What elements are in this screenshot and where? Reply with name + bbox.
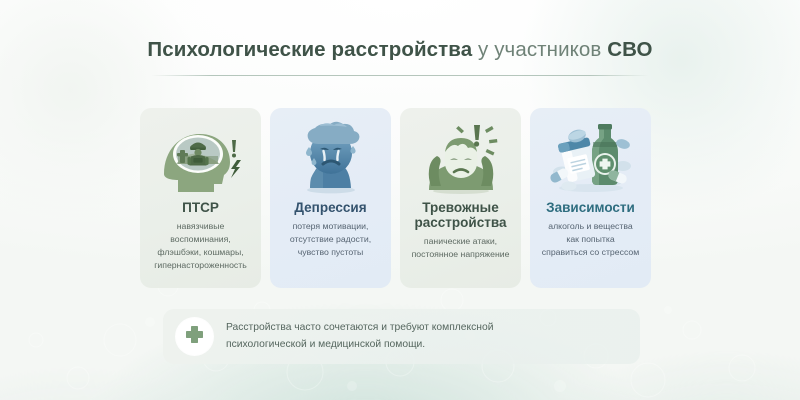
desc-line: как попытка (542, 233, 639, 246)
card-title: ПТСР (182, 200, 219, 215)
desc-line: панические атаки, (412, 235, 510, 248)
sad-face-raincloud-icon (289, 118, 373, 194)
card-title: Зависимости (546, 200, 635, 215)
note-line-2: психологической и медицинской помощи. (226, 337, 493, 354)
header: Психологические расстройства у участнико… (0, 38, 800, 76)
card-description: потеря мотивации, отсутствие радости, чу… (289, 220, 372, 259)
bottle-pills-icon (545, 118, 637, 194)
disorder-card-depression[interactable]: Депрессия потеря мотивации, отсутствие р… (270, 108, 391, 288)
summary-note-banner: Расстройства часто сочетаются и требуют … (163, 309, 640, 364)
summary-note-text: Расстройства часто сочетаются и требуют … (226, 320, 493, 353)
card-title: Тревожные расстройства (406, 200, 515, 230)
medical-cross-badge (176, 318, 213, 355)
desc-line: чувство пустоты (290, 246, 371, 259)
desc-line: флэшбэки, кошмары, (154, 246, 247, 259)
medical-cross-icon (184, 326, 205, 347)
disorder-card-addiction[interactable]: Зависимости алкоголь и вещества как попы… (530, 108, 651, 288)
desc-line: гипернастороженность (154, 259, 247, 272)
note-line-1: Расстройства часто сочетаются и требуют … (226, 320, 493, 337)
card-title: Депрессия (294, 200, 366, 215)
desc-line: навязчивые (154, 220, 247, 233)
desc-line: потеря мотивации, (290, 220, 371, 233)
desc-line: алкоголь и вещества (542, 220, 639, 233)
stressed-person-head-clutch-icon (417, 118, 505, 194)
desc-line: справиться со стрессом (542, 246, 639, 259)
desc-line: постоянное напряжение (412, 248, 510, 261)
desc-line: отсутствие радости, (290, 233, 371, 246)
card-description: навязчивые воспоминания, флэшбэки, кошма… (153, 220, 248, 272)
page-title-strong-tail: СВО (607, 38, 652, 61)
disorder-card-list: ПТСР навязчивые воспоминания, флэшбэки, … (140, 108, 660, 288)
title-divider (151, 75, 649, 76)
card-description: панические атаки, постоянное напряжение (411, 235, 511, 261)
disorder-card-ptsr[interactable]: ПТСР навязчивые воспоминания, флэшбэки, … (140, 108, 261, 288)
page-title-light: у участников (478, 38, 601, 61)
page-title: Психологические расстройства у участнико… (0, 38, 800, 62)
head-soldier-flashback-icon (158, 118, 244, 194)
desc-line: воспоминания, (154, 233, 247, 246)
infographic-canvas: Психологические расстройства у участнико… (0, 0, 800, 400)
card-description: алкоголь и вещества как попытка справить… (541, 220, 640, 259)
rain-cloud (307, 122, 359, 144)
disorder-card-anxiety[interactable]: Тревожные расстройства панические атаки,… (400, 108, 521, 288)
page-title-strong: Психологические расстройства (147, 38, 472, 61)
